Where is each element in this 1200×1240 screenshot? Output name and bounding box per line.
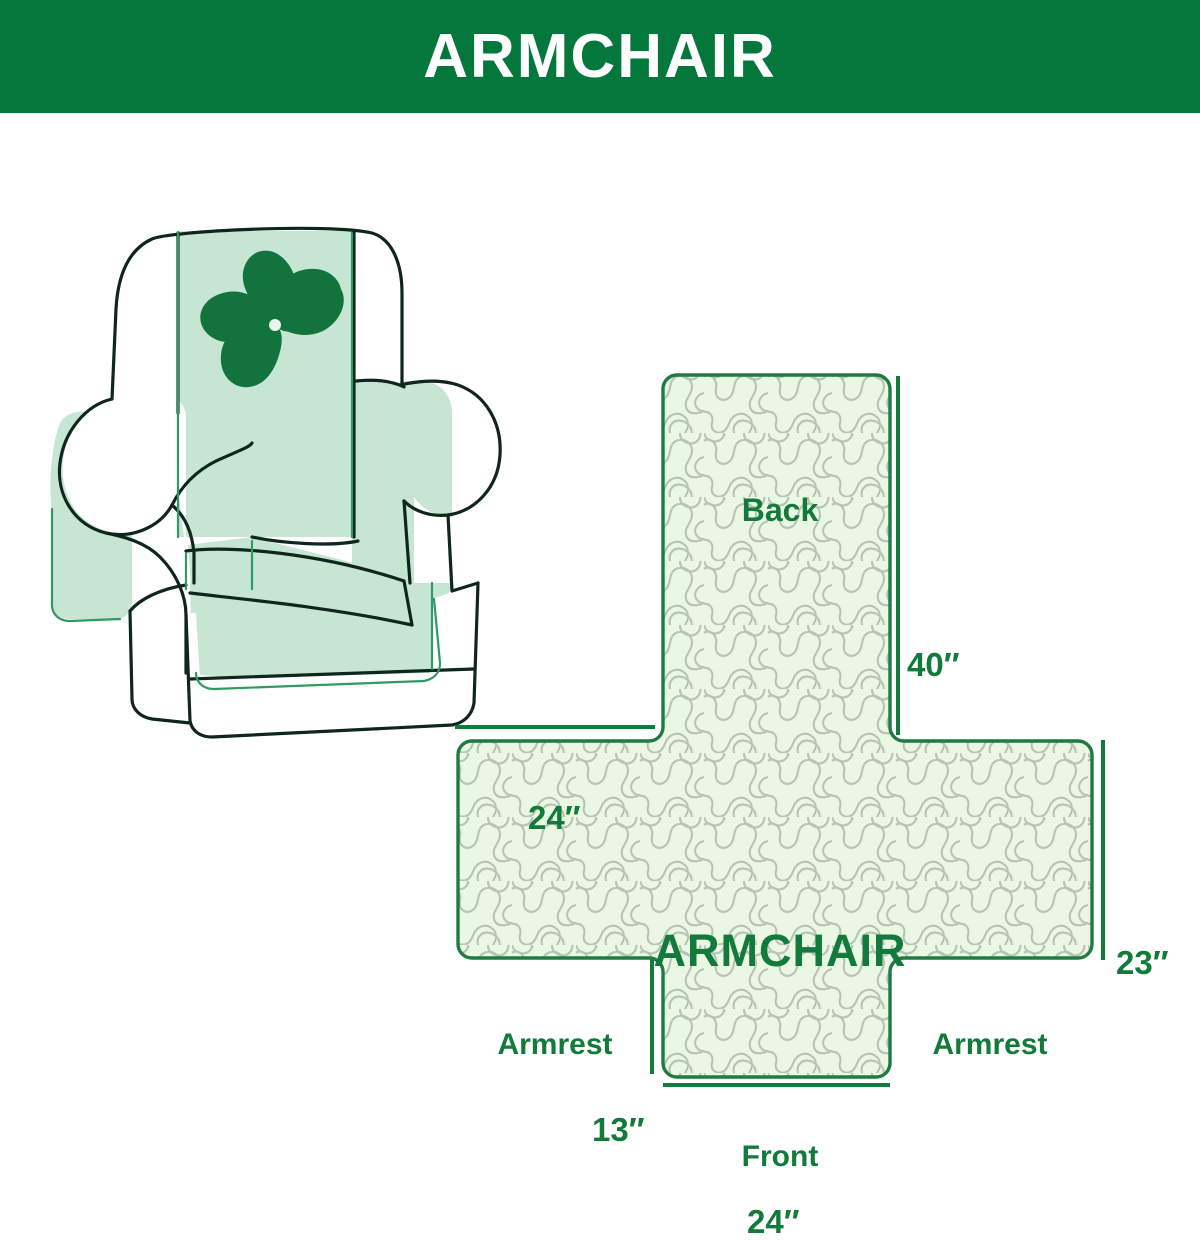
dimension-label-seat-depth: 23″ <box>1116 946 1169 979</box>
diagram-stage: Back ARMCHAIR Armrest Armrest Front 40″ … <box>0 113 1200 1200</box>
dimension-label-front-width: 24″ <box>747 1205 800 1238</box>
dimension-label-back-width: 24″ <box>528 801 581 834</box>
page-title: ARMCHAIR <box>423 26 777 88</box>
panel-label-armrest-left: Armrest <box>470 1030 640 1060</box>
panel-label-back: Back <box>700 494 860 526</box>
header-banner: ARMCHAIR <box>0 0 1200 113</box>
dimension-label-front-height: 13″ <box>592 1113 645 1146</box>
dimension-label-back-height: 40″ <box>907 648 960 681</box>
panel-label-armrest-right: Armrest <box>905 1030 1075 1060</box>
panel-label-front: Front <box>700 1142 860 1172</box>
panel-label-center: ARMCHAIR <box>650 928 910 973</box>
